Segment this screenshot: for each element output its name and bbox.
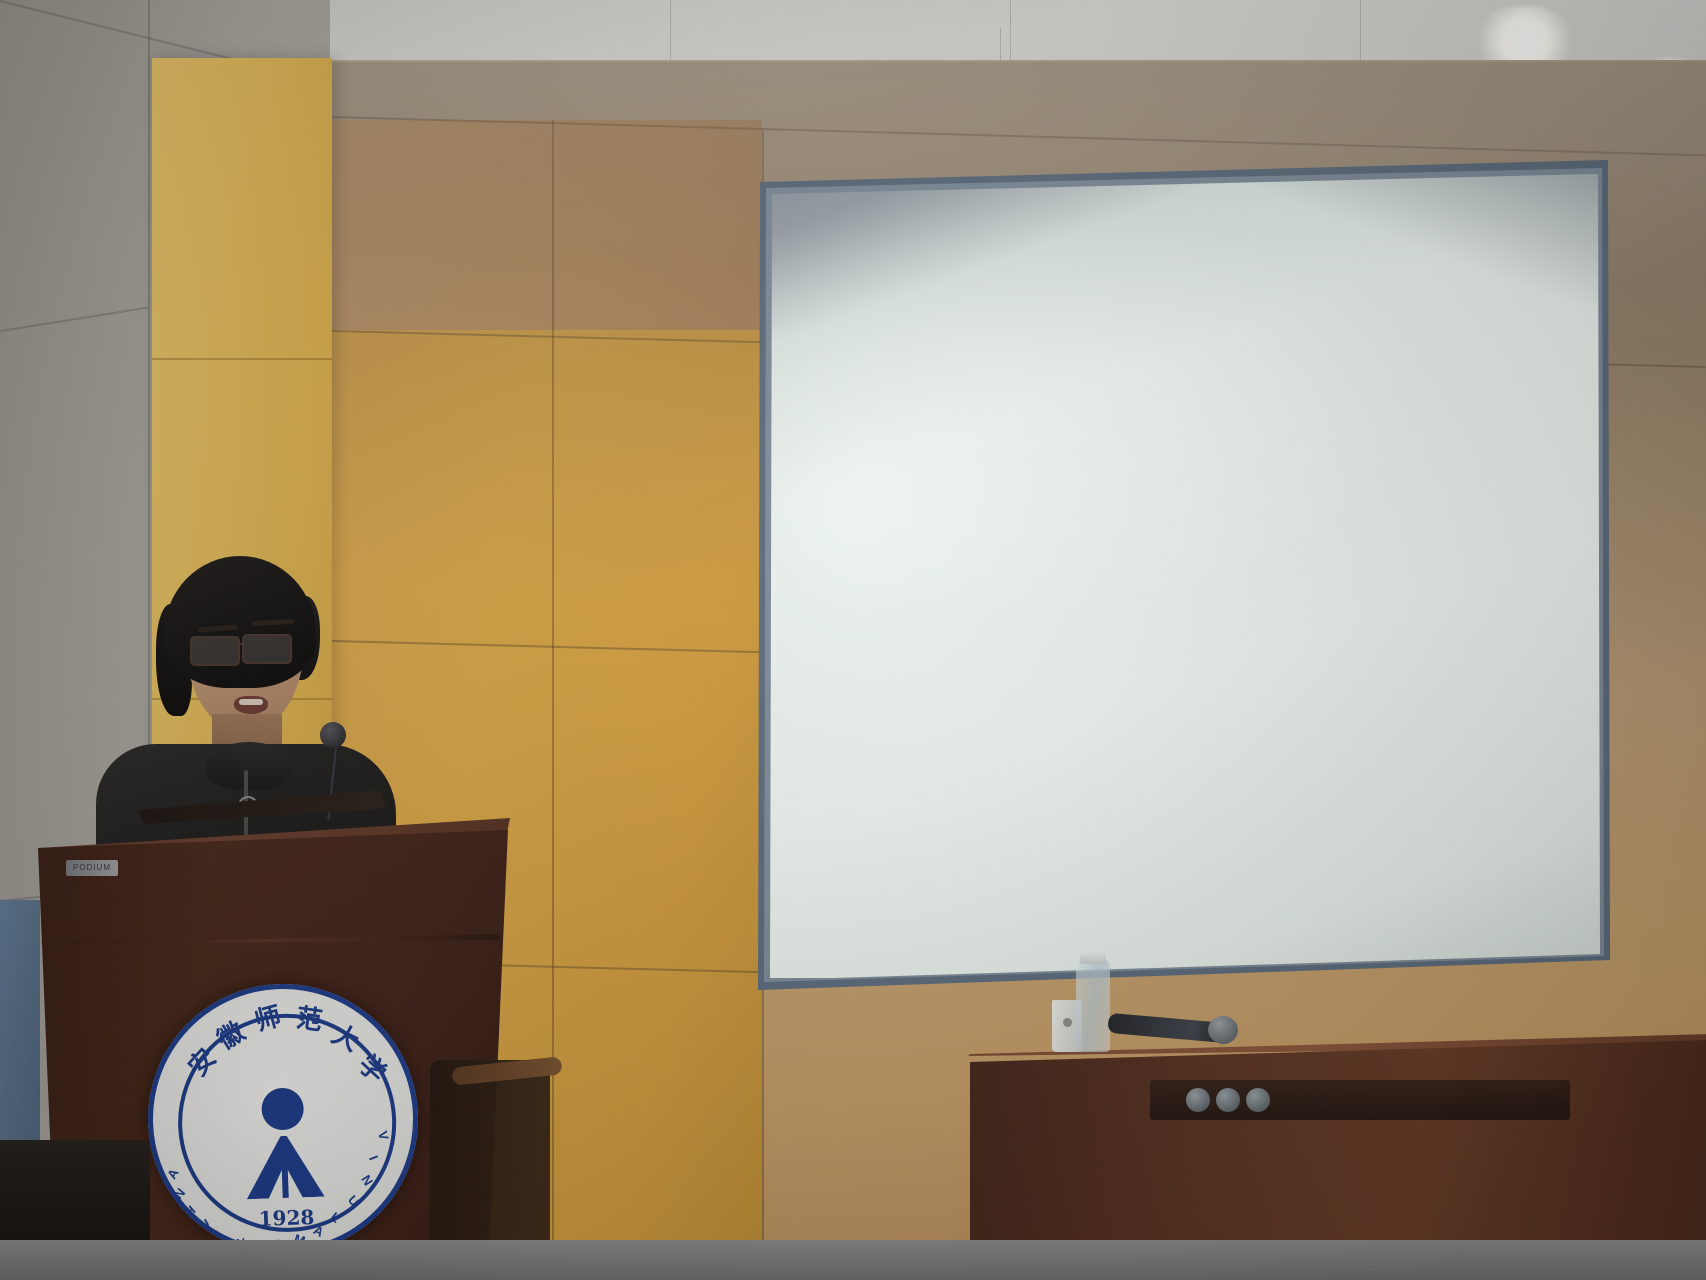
jacket-collar [206, 742, 292, 790]
floor [0, 1240, 1706, 1280]
control-knob[interactable] [1216, 1088, 1240, 1112]
water-bottle [1076, 960, 1110, 1052]
logo-en-char: N [358, 1172, 376, 1189]
glasses-bridge [236, 643, 244, 645]
bottle-cap [1080, 950, 1106, 964]
logo-figure-icon [229, 1086, 339, 1200]
wall-panel-upper [332, 120, 762, 335]
glasses [188, 634, 308, 664]
logo-figure-body [245, 1135, 325, 1200]
logo-en-char: A [164, 1165, 182, 1181]
podium-brand-plate: PODIUM [66, 860, 118, 876]
lecture-hall-scene: Semantic meaning evaluation Semantic eva… [0, 0, 1706, 1280]
mouth [234, 696, 268, 714]
control-knob[interactable] [1186, 1088, 1210, 1112]
table-control-panel [1150, 1080, 1570, 1120]
logo-en-char: I [366, 1153, 382, 1163]
glasses-lens [190, 636, 240, 666]
logo-en-char: N [171, 1184, 189, 1202]
university-logo: 安 徽 师 范 大 学 A N H U I N O R M A L U N I … [143, 979, 422, 1258]
wall-seam [552, 120, 554, 1280]
glasses-lens [242, 634, 292, 664]
control-knob[interactable] [1246, 1088, 1270, 1112]
logo-en-char: V [375, 1129, 392, 1142]
logo-figure-head [261, 1087, 304, 1130]
projection-screen-surface: Semantic meaning evaluation Semantic eva… [762, 170, 1602, 978]
side-fixture [0, 900, 40, 1150]
microphone-head-icon [320, 722, 346, 748]
